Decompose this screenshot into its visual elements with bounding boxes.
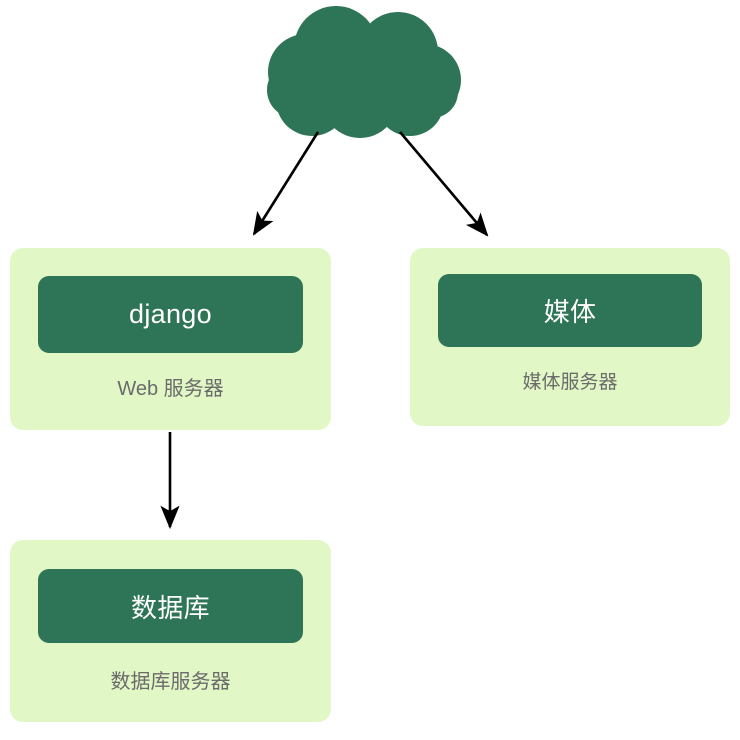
node-web-server-chip[interactable]: django: [38, 276, 303, 353]
node-database-server-caption: 数据库服务器: [111, 665, 231, 694]
node-media-server-chip[interactable]: 媒体: [438, 274, 702, 347]
node-web-server-caption: Web 服务器: [117, 372, 223, 401]
node-web-server[interactable]: django Web 服务器: [10, 248, 331, 430]
cloud-icon: [267, 6, 461, 138]
diagram-canvas: django Web 服务器 媒体 媒体服务器 数据库 数据库服务器: [0, 0, 740, 740]
node-database-server[interactable]: 数据库 数据库服务器: [10, 540, 331, 722]
node-database-server-chip-label: 数据库: [131, 588, 210, 625]
node-database-server-chip[interactable]: 数据库: [38, 569, 303, 643]
node-media-server-chip-label: 媒体: [544, 292, 597, 329]
node-media-server[interactable]: 媒体 媒体服务器: [410, 248, 730, 426]
node-web-server-chip-label: django: [129, 299, 212, 330]
node-media-server-caption: 媒体服务器: [522, 367, 617, 394]
